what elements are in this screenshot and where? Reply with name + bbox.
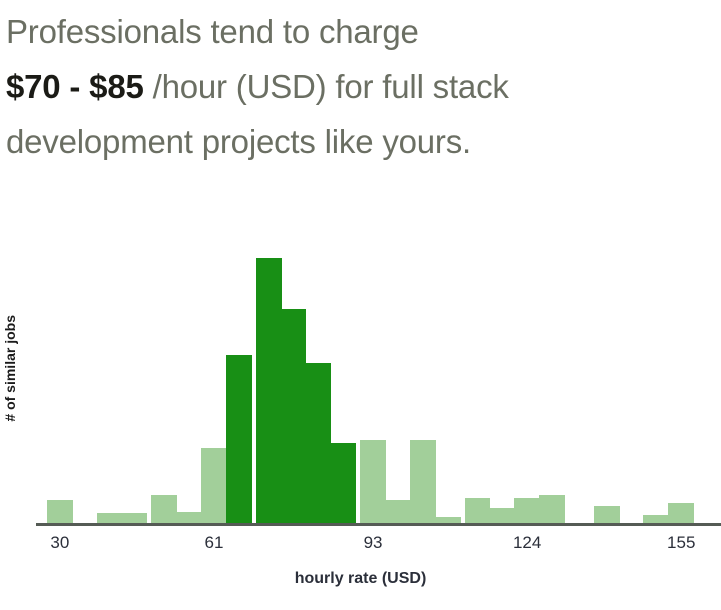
plot-area — [40, 200, 721, 523]
histogram-bar — [514, 498, 540, 523]
histogram-bar — [668, 503, 694, 523]
histogram-bar — [97, 513, 123, 523]
histogram-bar — [281, 309, 307, 523]
histogram-bar — [256, 258, 282, 523]
histogram-bar — [465, 498, 491, 523]
histogram-bar — [305, 363, 331, 523]
headline-line-3: development projects like yours. — [6, 114, 713, 169]
headline-line-2: $70 - $85 /hour (USD) for full stack — [6, 59, 713, 114]
histogram-bar — [122, 513, 148, 523]
histogram-bar — [151, 495, 177, 523]
headline-line-2-rest: /hour (USD) for full stack — [144, 68, 509, 105]
x-axis-tick-label: 124 — [513, 533, 541, 553]
histogram-bar — [330, 443, 356, 523]
histogram-bar — [176, 512, 202, 523]
rate-histogram-chart: # of similar jobs hourly rate (USD) 3061… — [0, 185, 721, 610]
histogram-bar — [643, 515, 669, 523]
histogram-bar — [539, 495, 565, 523]
x-axis-tick-label: 155 — [667, 533, 695, 553]
headline-block: Professionals tend to charge $70 - $85 /… — [0, 0, 721, 185]
x-axis-tick-label: 30 — [50, 533, 69, 553]
histogram-bar — [360, 440, 386, 523]
histogram-bar — [201, 448, 227, 523]
x-axis-tick-label: 61 — [205, 533, 224, 553]
histogram-bar — [489, 508, 515, 523]
histogram-bar — [594, 506, 620, 523]
x-axis-line — [36, 523, 721, 526]
histogram-bar — [226, 355, 252, 523]
histogram-bar — [385, 500, 411, 523]
x-axis-tick-label: 93 — [364, 533, 383, 553]
y-axis-label: # of similar jobs — [2, 315, 24, 422]
headline-line-1: Professionals tend to charge — [6, 4, 713, 59]
histogram-bar — [47, 500, 73, 523]
x-axis-label: hourly rate (USD) — [0, 570, 721, 588]
histogram-bar — [410, 440, 436, 523]
rate-range-value: $70 - $85 — [6, 68, 144, 105]
